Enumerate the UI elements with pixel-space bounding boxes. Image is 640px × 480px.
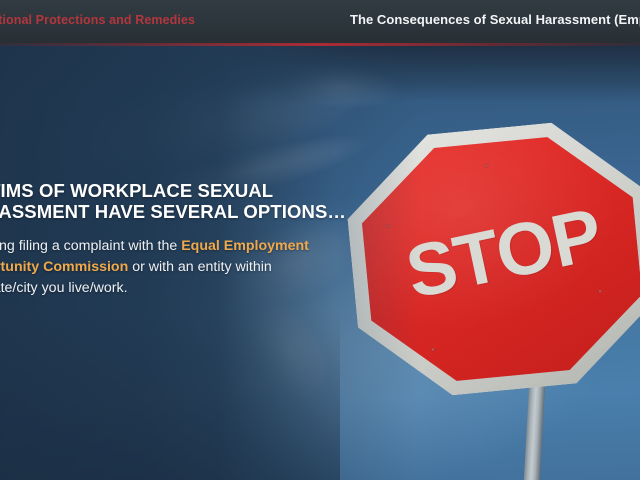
- body-highlight-2: Opportunity Commission: [0, 259, 128, 275]
- headline-line-1: VICTIMS OF WORKPLACE SEXUAL: [0, 180, 273, 201]
- bottom-shade-overlay: [0, 310, 340, 480]
- body-line-2-post: or with an entity within: [128, 259, 272, 275]
- body-line-2: Opportunity Commission or with an entity…: [0, 257, 338, 278]
- slide-body-text: Including filing a complaint with the Eq…: [0, 236, 338, 299]
- slide-headline: VICTIMS OF WORKPLACE SEXUAL HARASSMENT H…: [0, 180, 338, 222]
- body-line-1-pre: Including filing a complaint with the: [0, 238, 181, 254]
- body-highlight-1: Equal Employment: [181, 238, 309, 254]
- body-line-3: the state/city you live/work.: [0, 278, 338, 299]
- slide-canvas: STOP Additional Protections and Remedies…: [0, 0, 640, 480]
- header-section-title: Additional Protections and Remedies: [0, 13, 195, 27]
- slide-text-block: VICTIMS OF WORKPLACE SEXUAL HARASSMENT H…: [0, 180, 338, 299]
- header-accent-line: [0, 43, 640, 46]
- stop-sign-label: STOP: [399, 191, 609, 315]
- header-deck-title: The Consequences of Sexual Harassment (E…: [350, 12, 640, 27]
- headline-line-2: HARASSMENT HAVE SEVERAL OPTIONS…: [0, 201, 338, 222]
- body-line-1: Including filing a complaint with the Eq…: [0, 236, 338, 257]
